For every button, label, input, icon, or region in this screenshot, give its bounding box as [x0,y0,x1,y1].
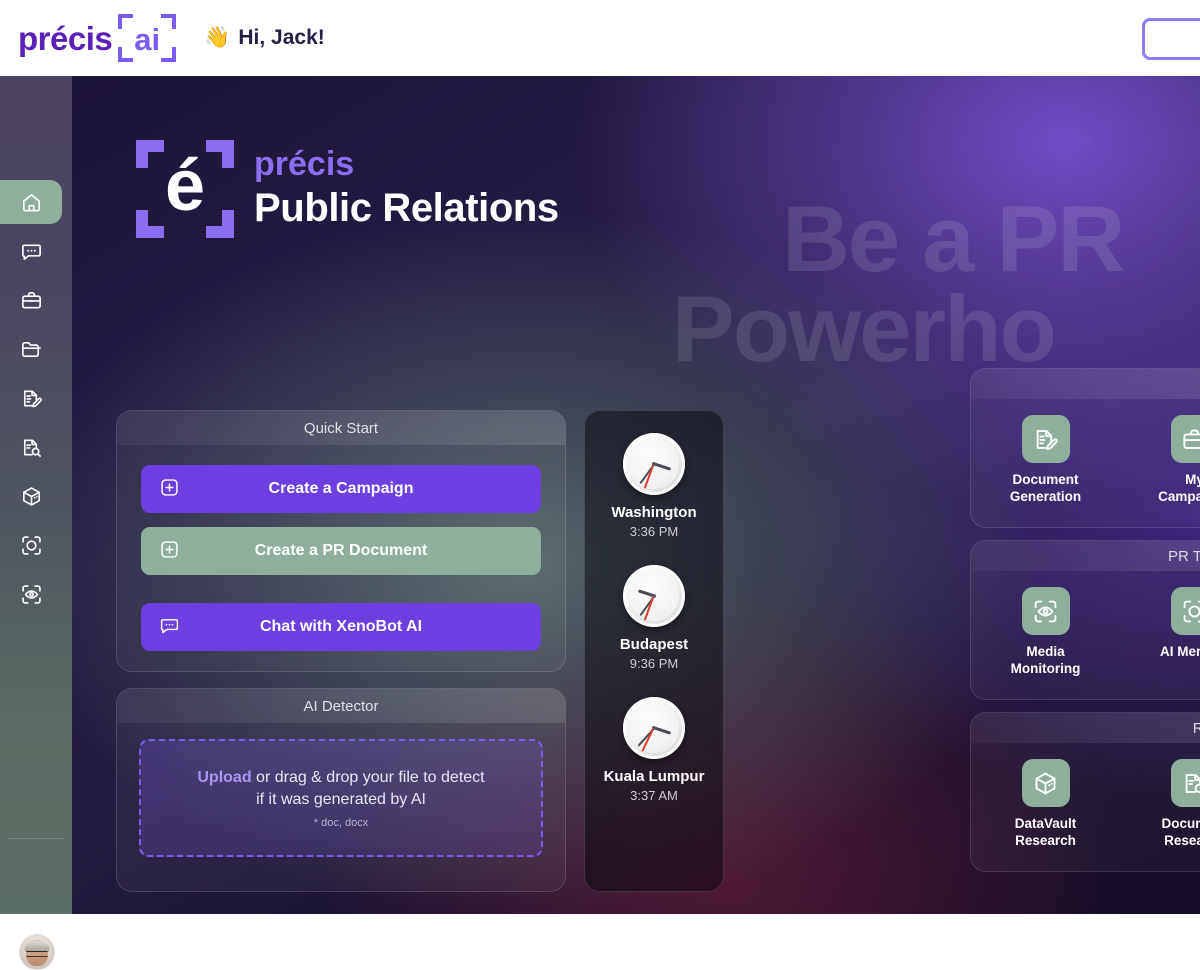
quick-start-button-label: Create a Campaign [141,480,541,498]
tile-datavault-research[interactable]: DataVault Research [971,759,1120,850]
brand-ai-label: ai [134,24,160,55]
ai-detector-dropzone[interactable]: Upload or drag & drop your file to detec… [139,739,543,857]
tile-label: Document Generation [1010,472,1081,506]
plus-square-icon [159,477,180,501]
sidebar-item-document-generation[interactable] [0,376,62,420]
sidebar-item-ai-memory[interactable] [0,523,62,567]
quick-start-button-create-a-pr-document[interactable]: Create a PR Document [141,527,541,575]
tile-label: My Campaigns [1158,472,1200,506]
greeting-text: Hi, Jack! [238,26,324,50]
clock-face-icon [623,565,685,627]
quick-start-button-label: Chat with XenoBot AI [141,618,541,636]
tile-label: DataVault Research [1015,816,1077,850]
tile-label: Media Monitoring [1011,644,1081,678]
lockup-subtitle: Public Relations [254,184,559,232]
clock-face-icon [623,433,685,495]
briefcase-icon [1171,415,1200,463]
document-edit-icon [20,387,43,410]
folder-icon [20,338,43,361]
dropzone-line-1: Upload or drag & drop your file to detec… [197,767,484,789]
brand-logo[interactable]: précis ai [18,13,176,63]
dropzone-line-2: if it was generated by AI [256,789,426,811]
sidebar-item-chat[interactable] [0,229,62,273]
sidebar-item-media-monitoring[interactable] [0,572,62,616]
home-icon [20,191,43,214]
quick-start-panel: Quick Start Create a CampaignCreate a PR… [116,410,566,672]
eye-scan-icon [1022,587,1070,635]
sidebar-item-datavault[interactable] [0,474,62,518]
world-clocks-panel: Washington3:36 PMBudapest9:36 PMKuala Lu… [584,410,724,892]
quick-start-button-label: Create a PR Document [141,542,541,560]
dropzone-file-types: * doc, docx [314,817,368,829]
precis-bracket-mark-icon: é [136,140,234,238]
tile-ai-memory[interactable]: AI Memory [1120,587,1200,678]
clock-time: 3:36 PM [630,524,678,539]
sidebar-item-files[interactable] [0,327,62,371]
clock-time: 9:36 PM [630,656,678,671]
clock-city: Washington [611,504,696,521]
clock-face-icon [623,697,685,759]
top-bar: précis ai 👋 Hi, Jack! [0,0,1200,76]
feature-group-heading: PR Tools and [971,541,1200,571]
tile-media-monitoring[interactable]: Media Monitoring [971,587,1120,678]
hero-ghost-line2: Powerho [672,284,1200,374]
clock-washington: Washington3:36 PM [585,433,723,539]
tile-document-generation[interactable]: Document Generation [971,415,1120,506]
upload-link[interactable]: Upload [197,769,251,786]
document-search-icon [20,436,43,459]
scan-circle-icon [1171,587,1200,635]
feature-group-pr-tools: PR Tools andMedia MonitoringAI Memory [970,540,1200,700]
hero-ghost-text: Be a PR Powerho [782,194,1200,374]
chat-bubble-icon [20,240,43,263]
feature-group-heading: Writing [971,369,1200,399]
cube-icon [1022,759,1070,807]
feature-group-heading: Research [971,713,1200,743]
document-edit-icon [1022,415,1070,463]
feature-group-research: ResearchDataVault ResearchDocument Resea… [970,712,1200,872]
tile-my-campaigns[interactable]: My Campaigns [1120,415,1200,506]
waving-hand-icon: 👋 [204,26,230,50]
quick-start-heading: Quick Start [117,411,565,445]
brand-ai-bracket-mark: ai [118,13,176,63]
lockup-glyph: é [165,150,205,222]
tile-label: AI Memory [1160,644,1200,661]
scan-circle-icon [20,534,43,557]
sidebar-item-home[interactable] [0,180,62,224]
clock-city: Kuala Lumpur [604,768,705,785]
plus-square-icon [159,539,180,563]
sidebar-item-campaigns[interactable] [0,278,62,322]
clock-kuala-lumpur: Kuala Lumpur3:37 AM [585,697,723,803]
product-lockup: é précis Public Relations [136,140,559,238]
feature-group-writing: WritingDocument GenerationMy Campaigns [970,368,1200,528]
briefcase-icon [20,289,43,312]
hero-ghost-line1: Be a PR [782,186,1123,291]
eye-scan-icon [20,583,43,606]
quick-start-button-create-a-campaign[interactable]: Create a Campaign [141,465,541,513]
clock-budapest: Budapest9:36 PM [585,565,723,671]
tile-document-research[interactable]: Document Research [1120,759,1200,850]
quick-start-button-chat-with-xenobot-ai[interactable]: Chat with XenoBot AI [141,603,541,651]
lockup-title: précis [254,146,559,183]
avatar[interactable] [19,934,55,970]
clock-city: Budapest [620,636,688,653]
sidebar-divider [8,838,64,839]
sidebar-item-document-research[interactable] [0,425,62,469]
ai-detector-panel: AI Detector Upload or drag & drop your f… [116,688,566,892]
quick-start-buttons: Create a CampaignCreate a PR DocumentCha… [117,445,565,669]
sidebar-nav [0,180,72,621]
clock-time: 3:37 AM [630,788,678,803]
ai-detector-heading: AI Detector [117,689,565,723]
greeting: 👋 Hi, Jack! [204,26,325,50]
main-stage: Be a PR Powerho é précis Public Relation… [72,76,1200,914]
chat-bubble-icon [159,615,180,639]
document-search-icon [1171,759,1200,807]
tile-label: Document Research [1161,816,1200,850]
topbar-action-box[interactable] [1142,18,1200,60]
sidebar [0,76,72,914]
cube-icon [20,485,43,508]
dropzone-rest: or drag & drop your file to detect [252,769,485,786]
brand-wordmark: précis [18,22,112,55]
